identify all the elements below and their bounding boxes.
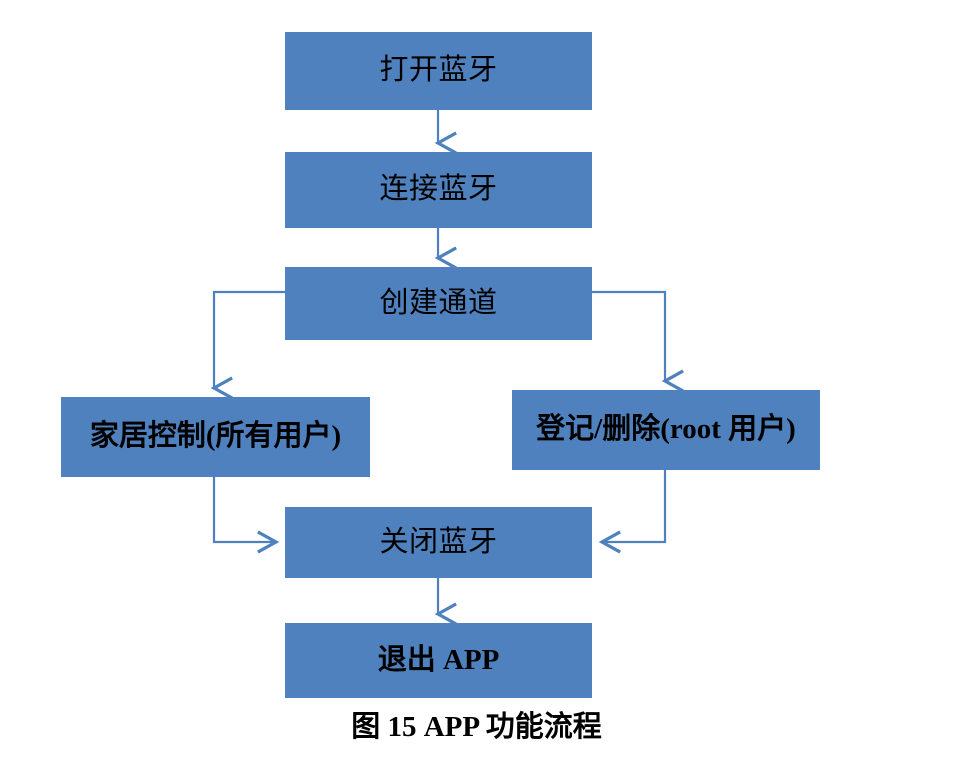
- edge-channel-to-register-delete: [592, 292, 665, 381]
- node-create-channel-label: 创建通道: [379, 288, 497, 320]
- edge-channel-to-home-control: [214, 292, 285, 388]
- node-home-control[interactable]: 家居控制(所有用户): [61, 397, 370, 477]
- node-connect-bluetooth-label: 连接蓝牙: [379, 174, 497, 206]
- node-connect-bluetooth[interactable]: 连接蓝牙: [285, 152, 592, 228]
- flowchart-figure: 打开蓝牙 连接蓝牙 创建通道 家居控制(所有用户) 登记/删除(root 用户)…: [0, 0, 953, 766]
- node-create-channel[interactable]: 创建通道: [285, 267, 592, 340]
- figure-caption: 图 15 APP 功能流程: [0, 703, 953, 745]
- edge-register-delete-to-close: [602, 470, 665, 542]
- node-close-bluetooth-label: 关闭蓝牙: [379, 527, 497, 559]
- node-register-delete-label: 登记/删除(root 用户): [536, 414, 796, 446]
- node-exit-app-label: 退出 APP: [378, 645, 500, 677]
- node-register-delete[interactable]: 登记/删除(root 用户): [512, 390, 820, 470]
- node-close-bluetooth[interactable]: 关闭蓝牙: [285, 507, 592, 578]
- node-open-bluetooth[interactable]: 打开蓝牙: [285, 32, 592, 110]
- node-home-control-label: 家居控制(所有用户): [90, 421, 341, 453]
- edge-home-control-to-close: [214, 477, 276, 542]
- node-open-bluetooth-label: 打开蓝牙: [379, 55, 497, 87]
- node-exit-app[interactable]: 退出 APP: [285, 623, 592, 698]
